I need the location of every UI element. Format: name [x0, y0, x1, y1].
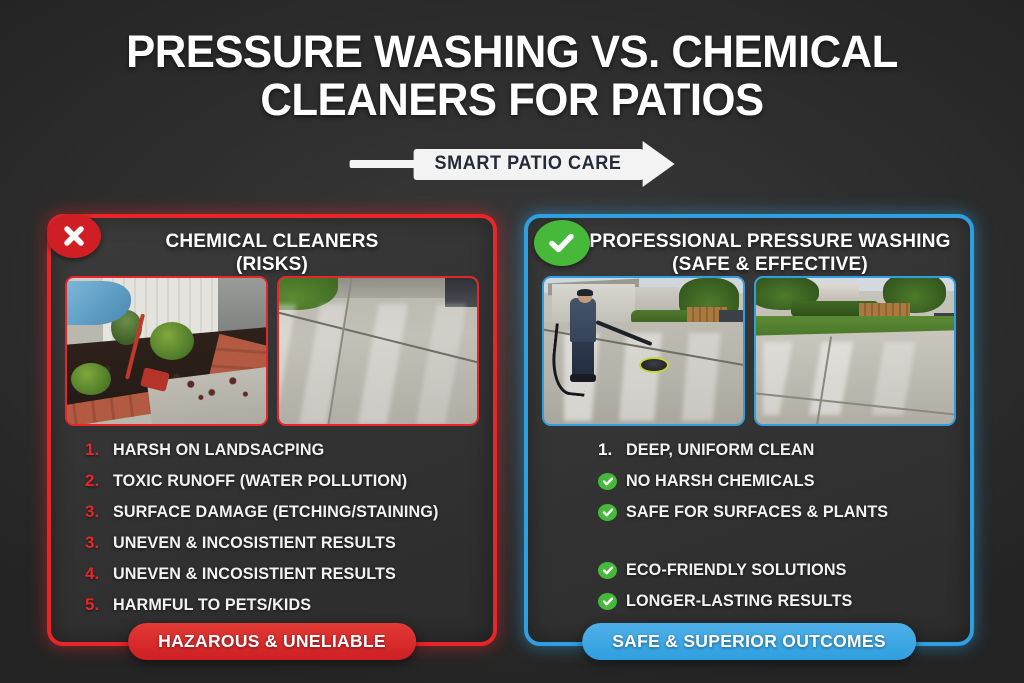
list-item: 3. UNEVEN & INCOSISTIENT RESULTS	[85, 533, 467, 555]
right-panel-title-sub: (SAFE & EFFECTIVE)	[586, 253, 954, 276]
list-item: 1. HARSH ON LANDSACPING	[85, 440, 467, 462]
left-panel-list: 1. HARSH ON LANDSACPING 2. TOXIC RUNOFF …	[51, 440, 493, 626]
photo-technician-surface-cleaner	[542, 276, 745, 426]
arrow-head-icon	[642, 141, 674, 187]
list-item: 2. TOXIC RUNOFF (WATER POLLUTION)	[85, 471, 467, 493]
left-panel-title-main: CHEMICAL CLEANERS	[165, 231, 378, 252]
list-item-label: LONGER-LASTING RESULTS	[626, 591, 852, 612]
pressure-washing-panel: PROFESSIONAL PRESSURE WASHING (SAFE & EF…	[524, 214, 974, 646]
list-item-label: ECO-FRIENDLY SOLUTIONS	[626, 560, 846, 581]
list-item-marker: 5.	[85, 595, 113, 615]
page-title-line-2: CLEANERS FOR PATIOS	[15, 76, 1008, 124]
list-item-marker: 3.	[85, 502, 113, 522]
list-item-label: HARMFUL TO PETS/KIDS	[113, 595, 311, 616]
list-item-label: UNEVEN & INCOSISTIENT RESULTS	[113, 564, 396, 585]
left-panel-title: CHEMICAL CLEANERS (RISKS)	[51, 230, 493, 276]
infographic-poster: PRESSURE WASHING VS. CHEMICAL CLEANERS F…	[0, 0, 1024, 683]
arrow-body: SMART PATIO CARE	[414, 149, 644, 180]
list-item: SAFE FOR SURFACES & PLANTS	[598, 502, 950, 524]
x-mark-icon	[47, 214, 101, 258]
right-panel-banner: SAFE & SUPERIOR OUTCOMES	[582, 623, 916, 660]
list-item: 5. HARMFUL TO PETS/KIDS	[85, 595, 467, 617]
left-panel-photos	[65, 276, 479, 426]
list-item: 1. DEEP, UNIFORM CLEAN	[598, 440, 950, 462]
chemical-cleaners-panel: CHEMICAL CLEANERS (RISKS)	[47, 214, 497, 646]
list-item-label: HARSH ON LANDSACPING	[113, 440, 324, 461]
check-icon	[598, 471, 626, 490]
right-panel-title: PROFESSIONAL PRESSURE WASHING (SAFE & EF…	[528, 230, 970, 276]
list-item: ECO-FRIENDLY SOLUTIONS	[598, 560, 950, 582]
right-panel-title-main: PROFESSIONAL PRESSURE WASHING	[589, 231, 950, 252]
arrow-label: SMART PATIO CARE	[435, 153, 622, 175]
arrow-tail	[350, 160, 416, 168]
photo-streaky-wet-patio	[277, 276, 480, 426]
list-item: LONGER-LASTING RESULTS	[598, 591, 950, 613]
list-item-marker: 3.	[85, 533, 113, 553]
check-icon	[598, 591, 626, 610]
list-item-label: NO HARSH CHEMICALS	[626, 471, 815, 492]
list-item-label: SURFACE DAMAGE (ETCHING/STAINING)	[113, 502, 438, 523]
check-mark-icon	[534, 220, 590, 266]
list-item: 3. SURFACE DAMAGE (ETCHING/STAINING)	[85, 502, 467, 524]
photo-clean-driveway	[754, 276, 957, 426]
photo-chemical-on-garden	[65, 276, 268, 426]
list-item-marker: 1.	[85, 440, 113, 460]
poster-header: PRESSURE WASHING VS. CHEMICAL CLEANERS F…	[0, 28, 1024, 123]
right-panel-list: 1. DEEP, UNIFORM CLEAN NO HARSH CHEMICAL…	[528, 440, 970, 622]
check-icon	[598, 502, 626, 521]
list-item-label: SAFE FOR SURFACES & PLANTS	[626, 502, 888, 523]
list-item: 4. UNEVEN & INCOSISTIENT RESULTS	[85, 564, 467, 586]
list-item-marker: 1.	[598, 440, 626, 460]
list-item-label: UNEVEN & INCOSISTIENT RESULTS	[113, 533, 396, 554]
list-item-marker: 4.	[85, 564, 113, 584]
list-item: NO HARSH CHEMICALS	[598, 471, 950, 493]
list-item-marker: 2.	[85, 471, 113, 491]
list-item-label: TOXIC RUNOFF (WATER POLLUTION)	[113, 471, 407, 492]
left-panel-title-sub: (RISKS)	[105, 253, 439, 276]
left-panel-banner: HAZAROUS & UNELIABLE	[128, 623, 416, 660]
list-item-label: DEEP, UNIFORM CLEAN	[626, 440, 814, 461]
right-panel-photos	[542, 276, 956, 426]
check-icon	[598, 560, 626, 579]
smart-patio-care-arrow: SMART PATIO CARE	[350, 146, 675, 182]
page-title-line-1: PRESSURE WASHING VS. CHEMICAL	[15, 28, 1008, 76]
